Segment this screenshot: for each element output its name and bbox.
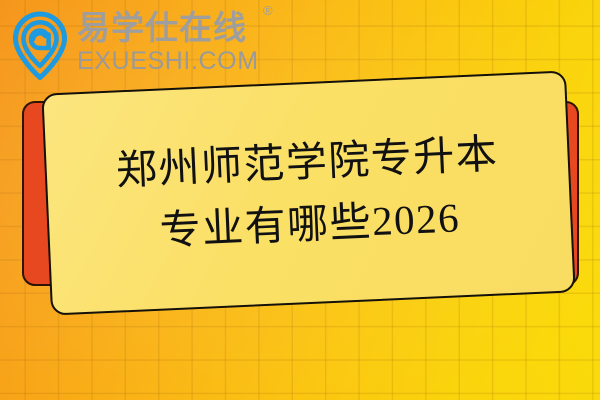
brand-domain: EXUESHI.COM	[77, 47, 259, 75]
brand-name-cn-text: 易学仕在线	[77, 9, 247, 46]
brand-name-cn: 易学仕在线 ®	[77, 10, 259, 46]
registered-trademark-icon: ®	[263, 4, 274, 17]
brand-wordmark: 易学仕在线 ® EXUESHI.COM	[77, 10, 259, 75]
headline-line-2: 专业有哪些2026	[159, 194, 461, 253]
promo-banner: 郑州师范学院专升本 专业有哪些2026 易学仕在线 ® EXUESHI.COM	[0, 0, 600, 400]
card-front-headline: 郑州师范学院专升本 专业有哪些2026	[41, 70, 575, 315]
location-pin-spiral-e-icon	[9, 8, 71, 80]
brand-logo[interactable]: 易学仕在线 ® EXUESHI.COM	[9, 6, 259, 80]
headline-line-1: 郑州师范学院专升本	[115, 131, 499, 194]
